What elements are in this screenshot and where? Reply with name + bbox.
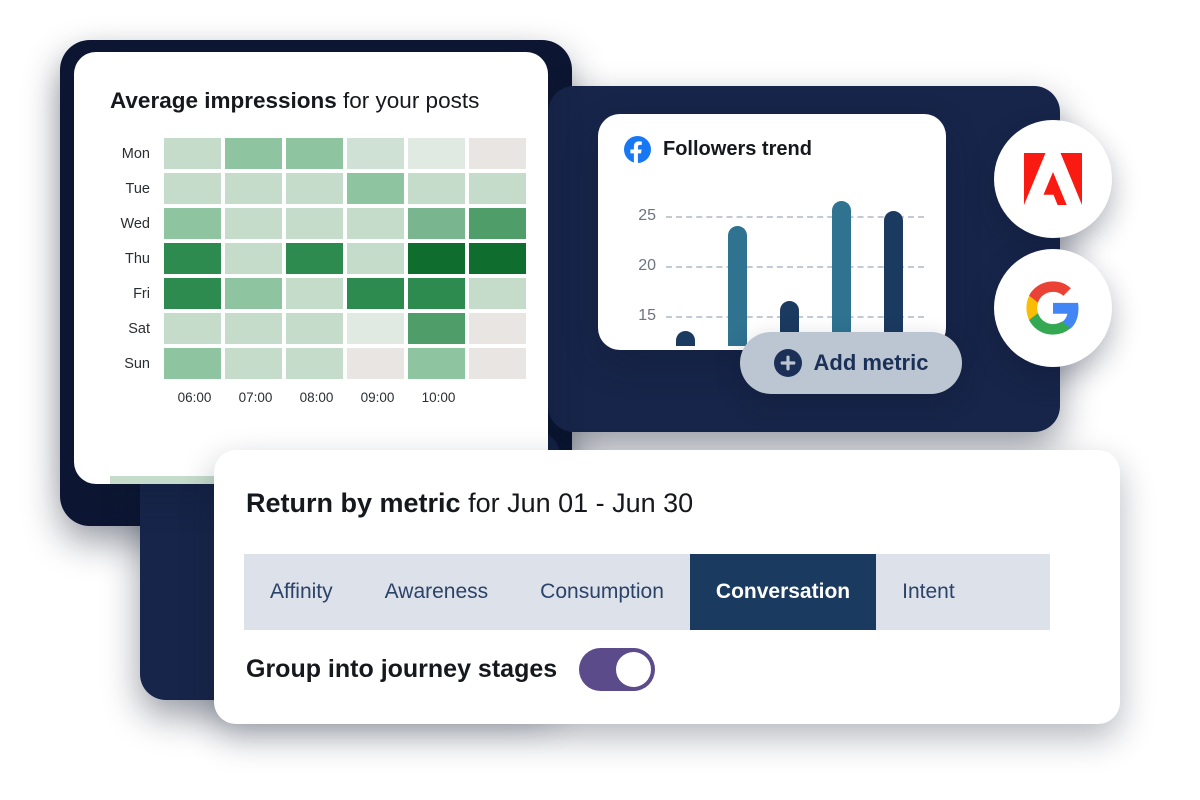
heatmap-title: Average impressions for your posts bbox=[110, 88, 479, 114]
return-by-metric-card: Return by metric for Jun 01 - Jun 30 Aff… bbox=[214, 450, 1120, 724]
heatmap-cell[interactable] bbox=[469, 313, 526, 344]
heatmap-grid: MonTueWedThuFriSatSun06:0007:0008:0009:0… bbox=[110, 136, 526, 405]
heatmap-cell[interactable] bbox=[286, 348, 343, 379]
chart-y-tick-label: 20 bbox=[618, 257, 656, 275]
add-metric-button[interactable]: Add metric bbox=[740, 332, 962, 394]
adobe-badge[interactable] bbox=[994, 120, 1112, 238]
heatmap-day-label: Tue bbox=[110, 181, 164, 197]
heatmap-legend-swatch bbox=[110, 476, 205, 484]
heatmap-cell[interactable] bbox=[347, 138, 404, 169]
followers-trend-card: Followers trend 152025 bbox=[598, 114, 946, 350]
heatmap-row-cells bbox=[164, 313, 526, 344]
heatmap-day-label: Sat bbox=[110, 321, 164, 337]
add-metric-label: Add metric bbox=[814, 350, 929, 376]
heatmap-row-cells bbox=[164, 138, 526, 169]
heatmap-cell[interactable] bbox=[164, 208, 221, 239]
heatmap-cell[interactable] bbox=[408, 278, 465, 309]
group-journey-stages-row: Group into journey stages bbox=[246, 648, 655, 691]
heatmap-cell[interactable] bbox=[286, 138, 343, 169]
heatmap-cell[interactable] bbox=[225, 208, 282, 239]
followers-trend-title: Followers trend bbox=[663, 138, 812, 161]
heatmap-row: Sat bbox=[110, 311, 526, 346]
heatmap-cell[interactable] bbox=[469, 208, 526, 239]
heatmap-cell[interactable] bbox=[164, 313, 221, 344]
screenshot-root: Average impressions for your posts MonTu… bbox=[0, 0, 1200, 800]
average-impressions-card: Average impressions for your posts MonTu… bbox=[74, 52, 548, 484]
chart-bar[interactable] bbox=[676, 331, 695, 346]
heatmap-title-regular: for your posts bbox=[337, 88, 480, 113]
heatmap-cell[interactable] bbox=[164, 243, 221, 274]
heatmap-time-label: 09:00 bbox=[347, 390, 408, 405]
facebook-icon bbox=[624, 136, 651, 163]
group-journey-stages-toggle[interactable] bbox=[579, 648, 655, 691]
heatmap-time-label: 07:00 bbox=[225, 390, 286, 405]
chart-bar[interactable] bbox=[728, 226, 747, 346]
heatmap-cell[interactable] bbox=[286, 173, 343, 204]
heatmap-cell[interactable] bbox=[347, 243, 404, 274]
tab-awareness[interactable]: Awareness bbox=[359, 554, 515, 630]
metric-tabbar: AffinityAwarenessConsumptionConversation… bbox=[244, 554, 1050, 630]
heatmap-cell[interactable] bbox=[347, 173, 404, 204]
heatmap-cell[interactable] bbox=[164, 173, 221, 204]
heatmap-cell[interactable] bbox=[347, 313, 404, 344]
heatmap-row: Thu bbox=[110, 241, 526, 276]
heatmap-cell[interactable] bbox=[469, 278, 526, 309]
heatmap-cell[interactable] bbox=[225, 278, 282, 309]
heatmap-row: Sun bbox=[110, 346, 526, 381]
heatmap-cell[interactable] bbox=[347, 348, 404, 379]
heatmap-cell[interactable] bbox=[286, 278, 343, 309]
return-title-range: for Jun 01 - Jun 30 bbox=[461, 488, 694, 518]
heatmap-cell[interactable] bbox=[164, 138, 221, 169]
heatmap-cell[interactable] bbox=[347, 208, 404, 239]
heatmap-time-label: 08:00 bbox=[286, 390, 347, 405]
chart-y-tick-label: 15 bbox=[618, 307, 656, 325]
heatmap-row: Tue bbox=[110, 171, 526, 206]
heatmap-cell[interactable] bbox=[347, 278, 404, 309]
chart-bar[interactable] bbox=[832, 201, 851, 346]
heatmap-cell[interactable] bbox=[469, 138, 526, 169]
heatmap-day-label: Mon bbox=[110, 146, 164, 162]
heatmap-cell[interactable] bbox=[408, 313, 465, 344]
tab-intent[interactable]: Intent bbox=[876, 554, 981, 630]
plus-circle-icon bbox=[774, 349, 802, 377]
tab-consumption[interactable]: Consumption bbox=[514, 554, 690, 630]
heatmap-day-label: Thu bbox=[110, 251, 164, 267]
tab-conversation[interactable]: Conversation bbox=[690, 554, 876, 630]
heatmap-row-cells bbox=[164, 208, 526, 239]
heatmap-row: Fri bbox=[110, 276, 526, 311]
heatmap-cell[interactable] bbox=[225, 348, 282, 379]
heatmap-cell[interactable] bbox=[286, 243, 343, 274]
heatmap-day-label: Wed bbox=[110, 216, 164, 232]
heatmap-cell[interactable] bbox=[408, 208, 465, 239]
heatmap-cell[interactable] bbox=[408, 173, 465, 204]
heatmap-day-label: Fri bbox=[110, 286, 164, 302]
followers-card-header: Followers trend bbox=[624, 136, 812, 163]
heatmap-cell[interactable] bbox=[408, 243, 465, 274]
heatmap-cell[interactable] bbox=[469, 348, 526, 379]
return-title-bold: Return by metric bbox=[246, 488, 461, 518]
return-by-metric-title: Return by metric for Jun 01 - Jun 30 bbox=[246, 488, 693, 519]
heatmap-cell[interactable] bbox=[286, 313, 343, 344]
heatmap-row: Wed bbox=[110, 206, 526, 241]
heatmap-time-label: 10:00 bbox=[408, 390, 469, 405]
heatmap-cell[interactable] bbox=[225, 138, 282, 169]
heatmap-cell[interactable] bbox=[286, 208, 343, 239]
heatmap-day-label: Sun bbox=[110, 356, 164, 372]
heatmap-row-cells bbox=[164, 348, 526, 379]
heatmap-row-cells bbox=[164, 173, 526, 204]
heatmap-row-cells bbox=[164, 243, 526, 274]
heatmap-x-axis: 06:0007:0008:0009:0010:00 bbox=[164, 390, 526, 405]
heatmap-cell[interactable] bbox=[408, 138, 465, 169]
heatmap-cell[interactable] bbox=[225, 313, 282, 344]
heatmap-time-label: 06:00 bbox=[164, 390, 225, 405]
heatmap-title-bold: Average impressions bbox=[110, 88, 337, 113]
heatmap-cell[interactable] bbox=[225, 173, 282, 204]
chart-y-tick-label: 25 bbox=[618, 207, 656, 225]
heatmap-cell[interactable] bbox=[408, 348, 465, 379]
heatmap-cell[interactable] bbox=[469, 173, 526, 204]
heatmap-cell[interactable] bbox=[164, 278, 221, 309]
tab-affinity[interactable]: Affinity bbox=[244, 554, 359, 630]
adobe-logo-icon bbox=[1024, 153, 1082, 205]
heatmap-row: Mon bbox=[110, 136, 526, 171]
heatmap-cell[interactable] bbox=[225, 243, 282, 274]
chart-bar[interactable] bbox=[884, 211, 903, 346]
heatmap-cell[interactable] bbox=[164, 348, 221, 379]
group-journey-stages-label: Group into journey stages bbox=[246, 655, 557, 684]
followers-bar-chart: 152025 bbox=[618, 186, 928, 346]
google-badge[interactable] bbox=[994, 249, 1112, 367]
heatmap-cell[interactable] bbox=[469, 243, 526, 274]
google-logo-icon bbox=[1024, 279, 1082, 337]
heatmap-row-cells bbox=[164, 278, 526, 309]
